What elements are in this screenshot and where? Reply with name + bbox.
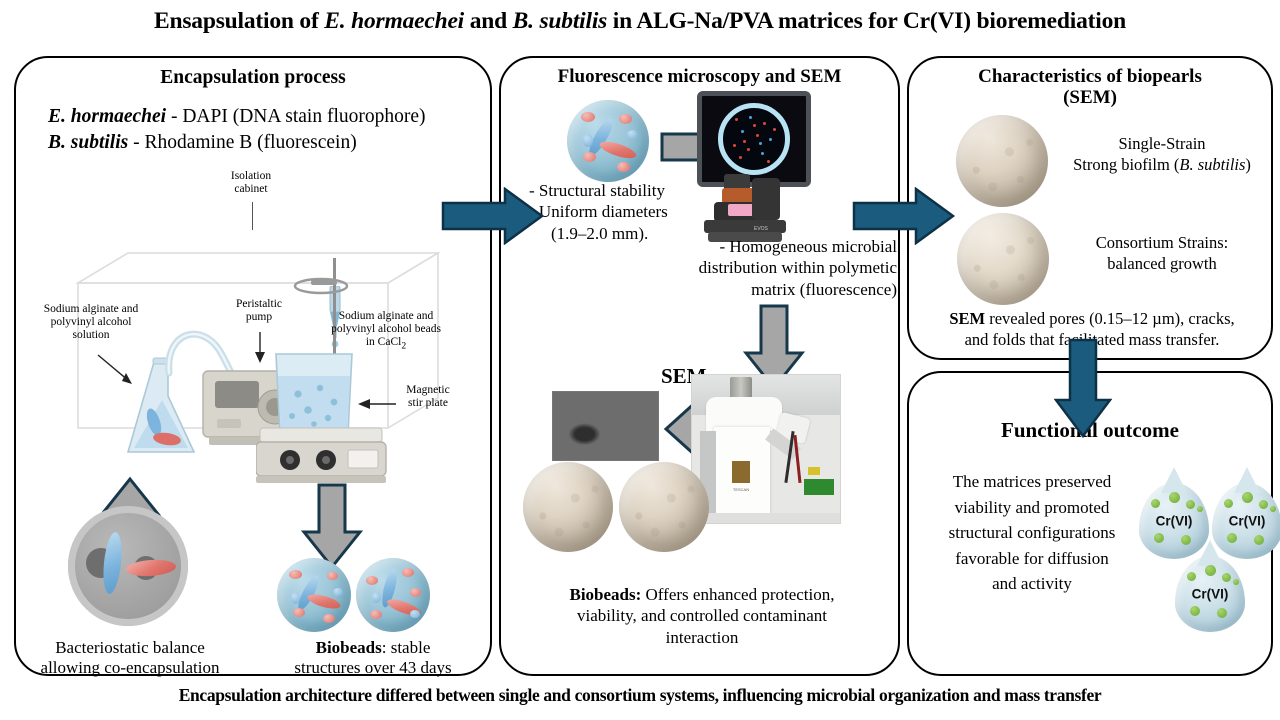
arrow-right-teal-left-to-mid bbox=[441, 187, 545, 245]
title-species-1: E. hormaechei bbox=[324, 8, 464, 34]
arrow-right-teal-mid-to-biopearls bbox=[852, 187, 956, 245]
panel-biopearls-title: Characteristics of biopearls (SEM) bbox=[909, 66, 1271, 109]
droplet-label-1: Cr(VI) bbox=[1139, 514, 1209, 529]
label-pointer-cabinet bbox=[252, 202, 253, 230]
biobead-1 bbox=[277, 558, 351, 632]
fluorescence-bullets-right: - Homogeneous microbial distribution wit… bbox=[557, 236, 909, 300]
page-title: Ensapsulation of E. hormaechei and B. su… bbox=[0, 8, 1280, 35]
label-consortium-strains: Consortium Strains: balanced growth bbox=[1057, 233, 1267, 274]
title-species-2: B. subtilis bbox=[513, 8, 607, 34]
label-alginate-solution: Sodium alginate and polyvinyl alcohol so… bbox=[26, 303, 156, 342]
fluorescence-field bbox=[718, 103, 790, 175]
sem-instrument-photo: TESCAN bbox=[691, 374, 841, 524]
footer-caption: Encapsulation architecture differed betw… bbox=[0, 685, 1280, 706]
species-stain-1: - DAPI (DNA stain fluorophore) bbox=[166, 106, 425, 127]
svg-text:EVOS: EVOS bbox=[754, 226, 769, 232]
panel-encapsulation-process: Encapsulation process E. hormaechei - DA… bbox=[14, 56, 492, 676]
bacteria-red-rod bbox=[126, 558, 177, 577]
biopearl-mid-2 bbox=[619, 462, 709, 552]
fluorescence-microscope-screen bbox=[697, 91, 811, 187]
species-line-2: B. subtilis - Rhodamine B (fluorescein) bbox=[48, 130, 426, 156]
biobead-2 bbox=[356, 558, 430, 632]
title-suffix: in ALG-Na/PVA matrices for Cr(VI) biorem… bbox=[607, 8, 1126, 34]
caption-biobeads-protection: Biobeads: Offers enhanced protection, vi… bbox=[511, 584, 893, 648]
species-name-b-subtilis: B. subtilis bbox=[48, 132, 128, 153]
panel-fluorescence-sem: Fluorescence microscopy and SEM bbox=[499, 56, 900, 676]
sem-micrograph bbox=[552, 391, 659, 461]
panel-biopearl-characteristics: Characteristics of biopearls (SEM) Singl… bbox=[907, 56, 1273, 360]
caption-biobeads: Biobeads: stable structures over 43 days bbox=[260, 638, 486, 679]
fluorescence-bullets-left: - Structural stability - Uniform diamete… bbox=[529, 180, 668, 244]
biobead-fluorescence bbox=[567, 100, 649, 182]
title-mid: and bbox=[464, 8, 513, 34]
pointer-arrow-stirplate bbox=[354, 394, 398, 416]
label-isolation-cabinet: Isolation cabinet bbox=[196, 170, 306, 196]
label-magnetic-stir-plate: Magnetic stir plate bbox=[388, 384, 468, 410]
droplet-cr6-3: Cr(VI) bbox=[1175, 556, 1245, 632]
droplet-label-2: Cr(VI) bbox=[1212, 514, 1280, 529]
droplet-label-3: Cr(VI) bbox=[1175, 587, 1245, 602]
label-beads-cacl2: Sodium alginate and polyvinyl alcohol be… bbox=[316, 310, 456, 352]
panel-encapsulation-title: Encapsulation process bbox=[16, 67, 490, 89]
biopearl-consortium bbox=[957, 213, 1049, 305]
title-prefix: Ensapsulation of bbox=[154, 8, 324, 34]
bacteriostatic-balance-circle bbox=[68, 506, 188, 626]
arrow-down-teal-biopearls-to-functional bbox=[1054, 338, 1112, 438]
caption-bacteriostatic-balance: Bacteriostatic balance allowing co-encap… bbox=[30, 638, 230, 679]
biopearl-mid-1 bbox=[523, 462, 613, 552]
biopearl-single-strain bbox=[956, 115, 1048, 207]
species-name-e-hormaechei: E. hormaechei bbox=[48, 106, 166, 127]
bacteria-blue-rod bbox=[101, 531, 124, 594]
species-stain-2: - Rhodamine B (fluorescein) bbox=[128, 132, 357, 153]
graphical-abstract: Ensapsulation of E. hormaechei and B. su… bbox=[0, 0, 1280, 720]
functional-outcome-text: The matrices preserved viability and pro… bbox=[923, 469, 1141, 597]
arrow-down-gray-left-panel bbox=[301, 482, 363, 570]
panel-fluorescence-title: Fluorescence microscopy and SEM bbox=[501, 66, 898, 87]
label-single-strain: Single-Strain Strong biofilm (B. subtili… bbox=[1057, 134, 1267, 175]
sem-brand-label: TESCAN bbox=[728, 487, 754, 493]
species-fluorophore-list: E. hormaechei - DAPI (DNA stain fluoroph… bbox=[48, 104, 426, 157]
species-line-1: E. hormaechei - DAPI (DNA stain fluoroph… bbox=[48, 104, 426, 130]
